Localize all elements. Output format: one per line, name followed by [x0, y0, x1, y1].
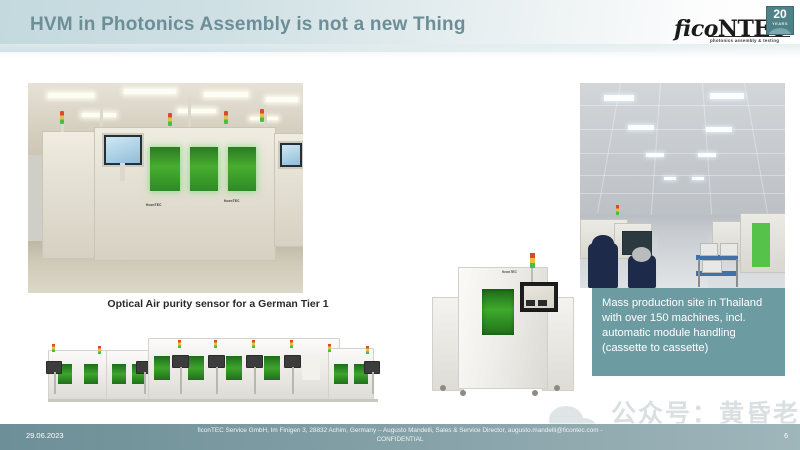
- machine-cabinet: [42, 131, 96, 259]
- machine-control-panel: [520, 282, 558, 312]
- screen-stalk: [144, 372, 146, 394]
- ceiling-light: [698, 153, 716, 157]
- photo-caption: Optical Air purity sensor for a German T…: [28, 298, 408, 310]
- ceiling-light: [706, 127, 732, 132]
- signal-tower-light: [252, 340, 255, 348]
- signal-tower-light: [260, 109, 264, 122]
- footer-page-number: 6: [784, 433, 788, 440]
- badge-wave-shape: [767, 27, 793, 34]
- screen-stalk: [216, 367, 218, 394]
- machine-caster-wheel: [460, 390, 466, 396]
- hall-aisle: [658, 233, 708, 288]
- cleanroom-production-line-photo: ficonTEC ficonTEC: [28, 83, 303, 293]
- module-blank-window: [302, 356, 320, 380]
- module-tray: [700, 243, 718, 256]
- green-machine-panel: [752, 223, 770, 267]
- monitor-stand: [120, 163, 125, 181]
- ceiling-lamp: [204, 92, 248, 97]
- thailand-factory-hall-photo: [580, 83, 785, 288]
- signal-tower-light: [52, 344, 55, 352]
- ceiling-lamp: [266, 97, 298, 102]
- machine-brand-label: ficonTEC: [224, 199, 240, 203]
- signal-tower-light: [168, 113, 172, 126]
- ceiling-light: [710, 93, 744, 99]
- machine-green-window: [190, 147, 218, 191]
- ceiling-lamp: [124, 89, 176, 94]
- presentation-slide: HVM in Photonics Assembly is not a new T…: [0, 0, 800, 450]
- machine-brand-label: ficonTEC: [502, 270, 517, 274]
- machine-line-render: [28, 322, 420, 410]
- callout-box: Mass production site in Thailand with ov…: [592, 288, 785, 376]
- screen-stalk: [372, 372, 374, 394]
- screen-stalk: [54, 372, 56, 394]
- ceiling-light: [628, 125, 654, 130]
- worker-cap: [592, 235, 614, 252]
- signal-tower-light: [366, 346, 369, 354]
- anniversary-badge: 20 YEARS: [766, 6, 794, 35]
- module-green-window: [334, 364, 348, 384]
- machine-base-rail: [48, 399, 378, 402]
- signal-tower-light: [98, 346, 101, 354]
- ceiling-lamp: [82, 113, 116, 117]
- signal-tower-light: [530, 253, 535, 268]
- badge-number: 20: [767, 8, 793, 21]
- footer-date: 29.06.2023: [26, 431, 64, 440]
- screen-stalk: [180, 367, 182, 394]
- module-green-window: [84, 364, 98, 384]
- slide-footer: 29.06.2023 ficonTEC Service GmbH, Im Fin…: [0, 424, 800, 450]
- signal-tower-light: [224, 111, 228, 124]
- module-green-window: [264, 356, 280, 380]
- ceiling-light: [664, 177, 676, 180]
- worker-cap: [632, 247, 651, 262]
- signal-tower-light: [60, 111, 64, 124]
- module-tray: [702, 260, 722, 273]
- bench-leg: [698, 259, 700, 287]
- signal-tower-light: [178, 340, 181, 348]
- machine-green-window: [228, 147, 256, 191]
- operator-monitor: [278, 141, 303, 169]
- signal-tower-light: [328, 344, 331, 352]
- ceiling-light: [604, 95, 634, 101]
- module-green-window: [226, 356, 242, 380]
- ceiling-lamp: [48, 93, 94, 98]
- machine-caster-wheel: [554, 385, 560, 391]
- module-green-window: [188, 356, 204, 380]
- footer-company-line: ficonTEC Service GmbH, Im Finigen 3, 288…: [197, 427, 602, 434]
- ceiling-light: [692, 177, 704, 180]
- single-machine-render: ficonTEC: [428, 245, 576, 420]
- footer-company-info: ficonTEC Service GmbH, Im Finigen 3, 288…: [110, 426, 690, 444]
- signal-tower-light: [616, 205, 619, 215]
- bench-leg: [736, 259, 738, 287]
- slide-header: HVM in Photonics Assembly is not a new T…: [0, 0, 800, 52]
- signal-tower-light: [214, 340, 217, 348]
- module-green-window: [112, 364, 126, 384]
- signal-tower-mast: [61, 124, 64, 132]
- machine-brand-label: ficonTEC: [146, 203, 162, 207]
- machine-caster-wheel: [440, 385, 446, 391]
- page-title: HVM in Photonics Assembly is not a new T…: [30, 14, 466, 36]
- ceiling-lamp: [178, 109, 216, 113]
- machine-green-window: [482, 289, 514, 335]
- module-green-window: [154, 356, 170, 380]
- ceiling-region: [580, 83, 785, 215]
- ceiling-grid-line: [580, 193, 785, 194]
- screen-stalk: [254, 367, 256, 394]
- machine-green-window: [150, 147, 180, 191]
- ceiling-grid-line: [580, 175, 785, 176]
- ceiling-grid-line: [580, 105, 785, 106]
- operator-monitor: [102, 133, 144, 167]
- ceiling-light: [646, 153, 664, 157]
- footer-confidential: CONFIDENTIAL: [377, 436, 424, 443]
- ceiling-grid-line: [580, 153, 785, 154]
- signal-tower-light: [290, 340, 293, 348]
- badge-label: YEARS: [767, 21, 793, 26]
- callout-text: Mass production site in Thailand with ov…: [592, 288, 785, 356]
- header-gradient-fade: [0, 44, 800, 58]
- logo-tagline: photonics assembly & testing: [710, 38, 779, 43]
- logo-divider-rule: [708, 36, 790, 37]
- screen-stalk: [292, 367, 294, 394]
- machine-caster-wheel: [532, 390, 538, 396]
- module-tray: [720, 243, 738, 256]
